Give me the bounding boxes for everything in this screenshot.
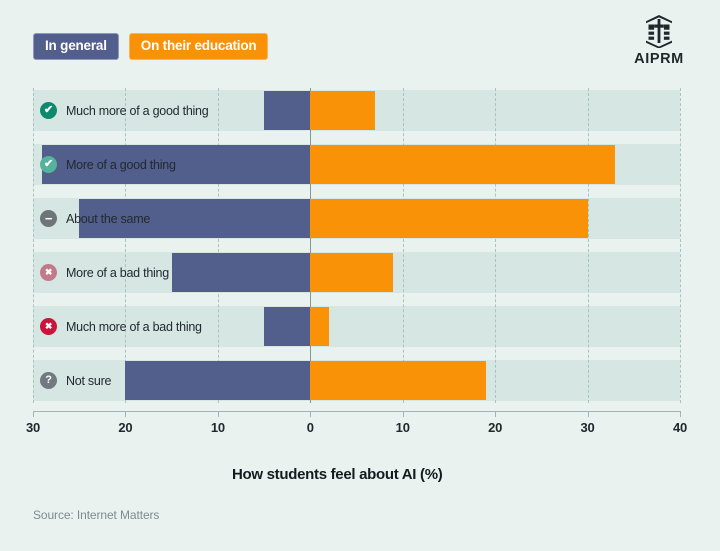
brand-name: AIPRM — [622, 51, 696, 67]
axis-tick — [680, 411, 681, 417]
bar-on-their-education — [310, 307, 328, 346]
axis-tick — [403, 411, 404, 417]
legend-item-in-general[interactable]: In general — [33, 33, 119, 60]
x-axis-title: How students feel about AI (%) — [232, 466, 442, 483]
axis-tick-label: 40 — [673, 420, 687, 435]
gridline — [218, 88, 219, 403]
bar-on-their-education — [310, 91, 375, 130]
category-label-row: ?Not sure — [40, 360, 111, 401]
axis-tick-label: 0 — [307, 420, 314, 435]
gridline — [680, 88, 681, 403]
category-label-row: ✔Much more of a good thing — [40, 90, 208, 131]
legend-item-on-their-education[interactable]: On their education — [129, 33, 269, 60]
category-label-row: ✖Much more of a bad thing — [40, 306, 202, 347]
gridline — [310, 88, 311, 403]
axis-tick — [310, 411, 311, 417]
category-label-text: More of a good thing — [66, 158, 176, 172]
brand-logo: AIPRM — [622, 14, 696, 67]
category-label-text: Not sure — [66, 374, 111, 388]
axis-tick — [218, 411, 219, 417]
cross-circle-icon: ✖ — [40, 264, 57, 281]
category-label-row: ✖More of a bad thing — [40, 252, 169, 293]
gridline — [403, 88, 404, 403]
bar-on-their-education — [310, 145, 615, 184]
check-circle-icon: ✔ — [40, 102, 57, 119]
bar-on-their-education — [310, 361, 486, 400]
gridline — [495, 88, 496, 403]
bar-in-general — [264, 307, 310, 346]
x-axis-line — [33, 411, 680, 412]
check-circle-icon: ✔ — [40, 156, 57, 173]
category-label-row: ✔More of a good thing — [40, 144, 176, 185]
axis-tick-label: 20 — [488, 420, 502, 435]
axis-tick — [588, 411, 589, 417]
cross-circle-icon: ✖ — [40, 318, 57, 335]
bar-on-their-education — [310, 199, 587, 238]
source-note: Source: Internet Matters — [33, 508, 159, 522]
bar-on-their-education — [310, 253, 393, 292]
category-label-text: About the same — [66, 212, 150, 226]
chart-card: In general On their education AIPRM ✔Mu — [0, 0, 720, 551]
aiprm-cube-icon — [642, 14, 676, 48]
category-label-text: Much more of a good thing — [66, 104, 208, 118]
bar-in-general — [172, 253, 311, 292]
x-axis: 302010010203040 — [33, 411, 680, 451]
axis-tick — [125, 411, 126, 417]
question-circle-icon: ? — [40, 372, 57, 389]
axis-tick-label: 10 — [211, 420, 225, 435]
axis-tick-label: 10 — [396, 420, 410, 435]
axis-tick — [33, 411, 34, 417]
axis-tick — [495, 411, 496, 417]
gridline — [588, 88, 589, 403]
chart-legend: In general On their education — [33, 33, 268, 60]
axis-tick-label: 30 — [581, 420, 595, 435]
minus-circle-icon: − — [40, 210, 57, 227]
axis-tick-label: 30 — [26, 420, 40, 435]
category-label-text: More of a bad thing — [66, 266, 169, 280]
bar-in-general — [125, 361, 310, 400]
category-label-row: −About the same — [40, 198, 150, 239]
plot-area: ✔Much more of a good thing✔More of a goo… — [33, 88, 680, 403]
axis-tick-label: 20 — [118, 420, 132, 435]
gridline — [33, 88, 34, 403]
gridline — [125, 88, 126, 403]
bar-in-general — [264, 91, 310, 130]
category-label-text: Much more of a bad thing — [66, 320, 202, 334]
